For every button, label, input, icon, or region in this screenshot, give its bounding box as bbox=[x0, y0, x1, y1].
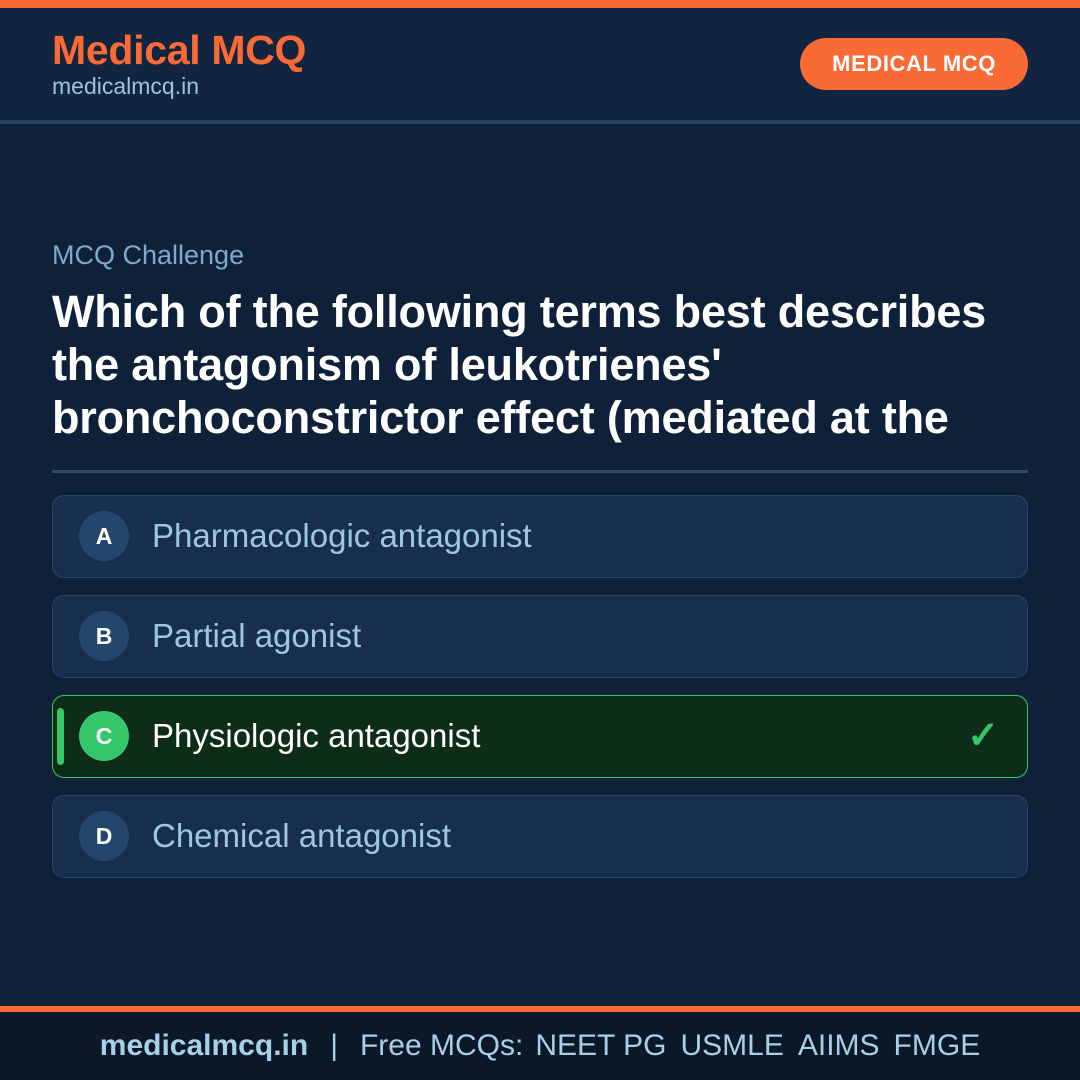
brand-title: Medical MCQ bbox=[52, 29, 306, 72]
option-letter-badge: B bbox=[79, 611, 129, 661]
check-icon: ✓ bbox=[967, 717, 999, 755]
footer-site: medicalmcq.in bbox=[100, 1029, 308, 1063]
options-list: A Pharmacologic antagonist B Partial ago… bbox=[52, 495, 1028, 878]
option-d[interactable]: D Chemical antagonist bbox=[52, 795, 1028, 878]
question-text: Which of the following terms best descri… bbox=[52, 285, 1028, 444]
footer: medicalmcq.in | Free MCQs: NEET PG USMLE… bbox=[0, 1012, 1080, 1080]
option-c[interactable]: C Physiologic antagonist ✓ bbox=[52, 695, 1028, 778]
option-b[interactable]: B Partial agonist bbox=[52, 595, 1028, 678]
top-accent-bar bbox=[0, 0, 1080, 8]
footer-exam-aiims: AIIMS bbox=[798, 1029, 880, 1063]
option-a[interactable]: A Pharmacologic antagonist bbox=[52, 495, 1028, 578]
option-label: Partial agonist bbox=[152, 618, 361, 654]
brand-subtitle: medicalmcq.in bbox=[52, 74, 306, 99]
footer-separator: | bbox=[330, 1029, 338, 1063]
brand: Medical MCQ medicalmcq.in bbox=[52, 29, 306, 99]
option-letter-badge: D bbox=[79, 811, 129, 861]
main-content: MCQ Challenge Which of the following ter… bbox=[0, 120, 1080, 1006]
option-label: Physiologic antagonist bbox=[152, 718, 480, 754]
kicker-label: MCQ Challenge bbox=[52, 120, 1028, 271]
footer-text: medicalmcq.in | Free MCQs: NEET PG USMLE… bbox=[100, 1029, 980, 1063]
header: Medical MCQ medicalmcq.in MEDICAL MCQ bbox=[0, 8, 1080, 120]
footer-label: Free MCQs: bbox=[360, 1029, 523, 1063]
question-divider bbox=[52, 470, 1028, 473]
option-letter-badge: A bbox=[79, 511, 129, 561]
footer-exam-usmle: USMLE bbox=[681, 1029, 784, 1063]
option-letter-badge: C bbox=[79, 711, 129, 761]
option-label: Chemical antagonist bbox=[152, 818, 451, 854]
option-label: Pharmacologic antagonist bbox=[152, 518, 532, 554]
mcq-card: Medical MCQ medicalmcq.in MEDICAL MCQ MC… bbox=[0, 0, 1080, 1080]
header-badge: MEDICAL MCQ bbox=[800, 38, 1028, 90]
footer-exam-fmge: FMGE bbox=[894, 1029, 981, 1063]
correct-accent-bar bbox=[57, 708, 64, 765]
footer-exam-neet-pg: NEET PG bbox=[535, 1029, 666, 1063]
